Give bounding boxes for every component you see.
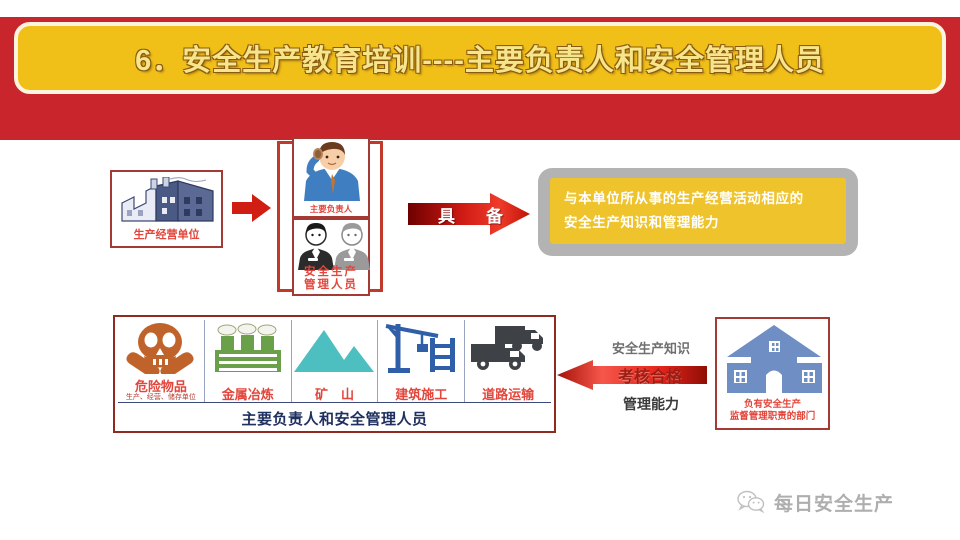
wechat-icon	[736, 490, 766, 514]
header-title-plate: 6．安全生产教育培训----主要负责人和安全管理人员	[14, 22, 946, 94]
skull-crossbones-icon	[118, 322, 202, 374]
person-label-safety-staff: 安全生产 管理人员	[294, 266, 368, 291]
authority-label: 负有安全生产 监督管理职责的部门	[717, 399, 828, 423]
industry-row: 危险物品 生产、经营、储存单位 金属冶炼	[118, 320, 551, 403]
industry-caption: 主要负责人和安全管理人员	[118, 403, 551, 433]
requirement-panel: 与本单位所从事的生产经营活动相应的 安全生产知识和管理能力	[550, 178, 846, 244]
industry-grid: 危险物品 生产、经营、储存单位 金属冶炼	[113, 315, 556, 433]
exam-bottom-label: 管理能力	[595, 394, 707, 414]
entity-label: 生产经营单位	[112, 230, 221, 242]
authority-card: 负有安全生产 监督管理职责的部门	[715, 317, 830, 430]
industry-label-smelting: 金属冶炼	[222, 388, 274, 402]
industry-label-construction: 建筑施工	[395, 388, 447, 402]
person-card-principal: 主要负责人	[292, 137, 370, 218]
industry-cell-mining: 矿 山	[292, 320, 379, 402]
exam-arrow-label: 考核合格	[597, 363, 703, 387]
authority-label-line2: 监督管理职责的部门	[730, 411, 816, 422]
requirement-line-2: 安全生产知识和管理能力	[564, 211, 832, 235]
industry-sublabel-hazardous: 生产、经营、储存单位	[126, 394, 196, 402]
industry-label-transport: 道路运输	[482, 388, 534, 402]
teal-mountain-icon	[292, 322, 376, 374]
watermark-text: 每日安全生产	[774, 489, 894, 516]
government-building-icon	[725, 323, 824, 395]
requirement-arrow-label: 具 备	[438, 202, 510, 227]
industry-label-mining: 矿 山	[315, 388, 354, 402]
watermark: 每日安全生产	[736, 487, 894, 517]
person-card-safety-staff: 安全生产 管理人员	[292, 218, 370, 296]
slide-canvas: 6．安全生产教育培训----主要负责人和安全管理人员 生产经营单位	[0, 0, 960, 540]
exam-top-label: 安全生产知识	[595, 338, 707, 357]
gray-truck-icon	[465, 322, 549, 374]
person-label-principal: 主要负责人	[294, 205, 368, 214]
industry-label-hazardous: 危险物品	[135, 380, 187, 394]
entity-card: 生产经营单位	[110, 170, 223, 248]
person-label-line2: 管理人员	[304, 279, 358, 291]
industry-cell-construction: 建筑施工	[378, 320, 465, 402]
green-smelter-icon	[205, 322, 289, 374]
red-right-arrow-icon	[232, 192, 272, 224]
page-title: 6．安全生产教育培训----主要负责人和安全管理人员	[135, 37, 825, 79]
industry-cell-hazardous: 危险物品 生产、经营、储存单位	[118, 320, 205, 402]
manager-phone-icon	[294, 141, 372, 201]
two-staff-icon	[294, 222, 372, 270]
authority-label-line1: 负有安全生产	[744, 399, 801, 410]
requirement-line-1: 与本单位所从事的生产经营活动相应的	[564, 187, 832, 211]
industry-cell-transport: 道路运输	[465, 320, 551, 402]
factory-icon	[118, 177, 219, 227]
exam-arrow-group: 安全生产知识 考核合格 管理能力	[557, 338, 707, 426]
industry-cell-smelting: 金属冶炼	[205, 320, 292, 402]
blue-crane-icon	[378, 322, 462, 374]
person-label-line1: 安全生产	[304, 266, 358, 278]
